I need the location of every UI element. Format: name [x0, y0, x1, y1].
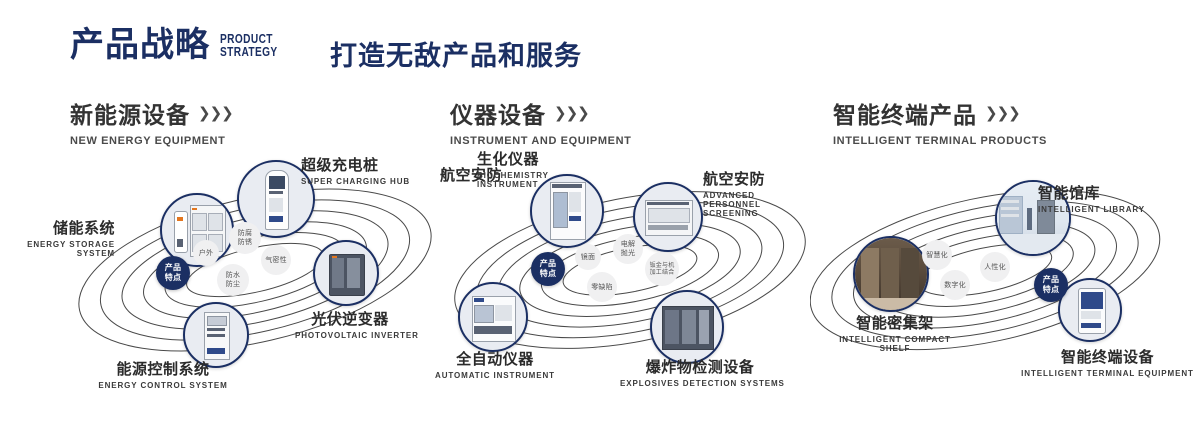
- detection-cabinet-icon: [652, 292, 722, 362]
- feature-label: 零缺陷: [591, 283, 613, 292]
- page-header: 产品战略 PRODUCT STRATEGY: [70, 28, 294, 62]
- screening-machine-icon: [635, 184, 701, 250]
- label-cn: 爆炸物检测设备: [620, 356, 780, 377]
- label-cn: 航空安防: [703, 168, 799, 189]
- page-title: 产品战略: [70, 28, 210, 62]
- label-en: EXPLOSIVES DETECTION SYSTEMS: [620, 379, 780, 388]
- badge-product-features[interactable]: 产品特点: [1034, 268, 1068, 302]
- label-en: PHOTOVOLTAIC INVERTER: [295, 331, 405, 340]
- inverter-cabinet-icon: [315, 242, 377, 304]
- label-photovoltaic-inverter: 光伏逆变器 PHOTOVOLTAIC INVERTER: [295, 308, 405, 340]
- label-cn: 能源控制系统: [88, 358, 238, 379]
- section-title-new-energy: 新能源设备❯❯❯ NEW ENERGY EQUIPMENT: [70, 96, 233, 147]
- section-title-en: INTELLIGENT TERMINAL PRODUCTS: [833, 135, 1047, 147]
- section-title-cn: 智能终端产品: [833, 96, 977, 130]
- label-biochemistry-instrument: 生化仪器 BIOCHEMISTRY INSTRUMENT: [477, 148, 561, 189]
- feature-bubble-electropolishing[interactable]: 电解抛光: [613, 234, 643, 264]
- section-title-en: INSTRUMENT AND EQUIPMENT: [450, 135, 631, 147]
- feature-bubble-airtightness[interactable]: 气密性: [261, 245, 291, 275]
- page-subtitle: 打造无敌产品和服务: [330, 34, 582, 73]
- node-explosives-detection-systems[interactable]: [650, 290, 724, 364]
- feature-label: 户外: [199, 249, 213, 258]
- section-title-intelligent-terminal: 智能终端产品❯❯❯ INTELLIGENT TERMINAL PRODUCTS: [833, 96, 1047, 147]
- label-advanced-personnel-screening: 航空安防 ADVANCED PERSONNEL SCREENING: [703, 168, 799, 218]
- chevrons-right-icon: ❯❯❯: [198, 104, 233, 122]
- label-cn: 生化仪器: [477, 148, 561, 169]
- node-advanced-personnel-screening[interactable]: [633, 182, 703, 252]
- feature-label: 智慧化: [926, 251, 948, 260]
- section-title-cn: 新能源设备: [70, 96, 190, 130]
- node-intelligent-compact-shelf[interactable]: [853, 236, 929, 312]
- label-en: INTELLIGENT COMPACT SHELF: [825, 335, 965, 353]
- chevrons-right-icon: ❯❯❯: [985, 104, 1020, 122]
- feature-bubble-intelligence[interactable]: 智慧化: [922, 240, 952, 270]
- feature-label: 防水防尘: [223, 271, 243, 289]
- label-intelligent-compact-shelf: 智能密集架 INTELLIGENT COMPACT SHELF: [825, 312, 965, 353]
- feature-label: 钣金与机加工结合: [649, 262, 675, 277]
- label-en: ENERGY CONTROL SYSTEM: [88, 381, 238, 390]
- label-intelligent-terminal-equipment: 智能终端设备 INTELLIGENT TERMINAL EQUIPMENT: [1015, 346, 1200, 378]
- label-en: SUPER CHARGING HUB: [301, 177, 410, 186]
- badge-product-features[interactable]: 产品特点: [531, 252, 565, 286]
- label-cn: 光伏逆变器: [295, 308, 405, 329]
- label-super-charging-hub: 超级充电桩 SUPER CHARGING HUB: [301, 154, 410, 186]
- badge-label: 产品特点: [1039, 275, 1063, 295]
- control-cabinet-icon: [185, 304, 247, 366]
- page-title-en-line2: STRATEGY: [220, 45, 278, 58]
- section-title-en: NEW ENERGY EQUIPMENT: [70, 135, 233, 147]
- cluster-instrument: 航空安防 生化仪器 BIOCHEMISTRY INSTRUMENT 航空安防 A…: [435, 160, 835, 380]
- label-en: INTELLIGENT LIBRARY: [1038, 205, 1145, 214]
- section-title-cn: 仪器设备: [450, 96, 546, 130]
- cluster-intelligent-terminal: 智能馆库 INTELLIGENT LIBRARY 智能密集架 INTELLIGE…: [810, 160, 1200, 380]
- label-energy-control-system: 能源控制系统 ENERGY CONTROL SYSTEM: [88, 358, 238, 390]
- label-intelligent-library: 智能馆库 INTELLIGENT LIBRARY: [1038, 182, 1145, 214]
- feature-bubble-digitalization[interactable]: 数字化: [940, 270, 970, 300]
- feature-bubble-waterproof[interactable]: 防水防尘: [217, 264, 249, 296]
- feature-label: 电解抛光: [618, 240, 638, 258]
- section-title-instrument: 仪器设备❯❯❯ INSTRUMENT AND EQUIPMENT: [450, 96, 631, 147]
- label-automatic-instrument: 全自动仪器 EXPLOSIVES DETECTION SYSTEMS AUTOM…: [430, 348, 560, 380]
- feature-bubble-humanization[interactable]: 人性化: [980, 252, 1010, 282]
- poster-canvas: 产品战略 PRODUCT STRATEGY 打造无敌产品和服务 新能源设备❯❯❯…: [0, 0, 1200, 422]
- feature-label: 气密性: [265, 256, 287, 265]
- label-energy-storage-system: 储能系统 ENERGY STORAGE SYSTEM: [3, 217, 115, 258]
- node-automatic-instrument[interactable]: [458, 282, 528, 352]
- cluster-new-energy: 储能系统 ENERGY STORAGE SYSTEM 超级充电桩 SUPER C…: [55, 160, 455, 380]
- feature-bubble-sheet-metal-machining[interactable]: 钣金与机加工结合: [645, 252, 679, 286]
- label-en: INTELLIGENT TERMINAL EQUIPMENT: [1015, 369, 1200, 378]
- compact-shelf-photo: [855, 238, 927, 310]
- label-en: BIOCHEMISTRY INSTRUMENT: [477, 171, 561, 189]
- label-en-automatic: AUTOMATIC INSTRUMENT: [430, 371, 560, 380]
- label-cn: 全自动仪器: [430, 348, 560, 369]
- feature-label: 数字化: [944, 281, 966, 290]
- feature-bubble-zero-defect[interactable]: 零缺陷: [587, 272, 617, 302]
- page-title-en: PRODUCT STRATEGY: [220, 32, 278, 58]
- chevrons-right-icon: ❯❯❯: [554, 104, 589, 122]
- label-cn: 储能系统: [3, 217, 115, 238]
- label-cn: 智能终端设备: [1015, 346, 1200, 367]
- label-explosives-detection-systems: 爆炸物检测设备 EXPLOSIVES DETECTION SYSTEMS: [620, 356, 780, 388]
- badge-product-features[interactable]: 产品特点: [156, 256, 190, 290]
- automatic-analyzer-icon: [460, 284, 526, 350]
- label-en: ADVANCED PERSONNEL SCREENING: [703, 191, 799, 218]
- feature-bubble-mirror-finish[interactable]: 镜面: [575, 244, 601, 270]
- feature-label: 镜面: [581, 253, 595, 262]
- feature-bubble-anticorrosion[interactable]: 防腐防锈: [229, 222, 261, 254]
- label-en: ENERGY STORAGE SYSTEM: [3, 240, 115, 258]
- feature-label: 防腐防锈: [235, 229, 255, 247]
- self-service-terminal-icon: [1060, 280, 1120, 340]
- node-photovoltaic-inverter[interactable]: [313, 240, 379, 306]
- badge-label: 产品特点: [161, 263, 185, 283]
- label-cn: 智能密集架: [825, 312, 965, 333]
- feature-label: 人性化: [984, 263, 1006, 272]
- feature-bubble-outdoor[interactable]: 户外: [193, 240, 219, 266]
- label-cn: 超级充电桩: [301, 154, 410, 175]
- label-cn: 智能馆库: [1038, 182, 1145, 203]
- badge-label: 产品特点: [536, 259, 560, 279]
